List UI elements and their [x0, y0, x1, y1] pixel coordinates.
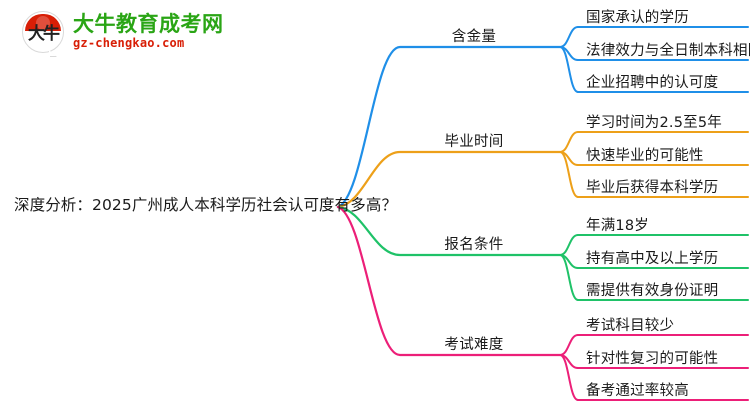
leaf-label-1-1[interactable]: 国家承认的学历: [586, 6, 689, 27]
logo-subtitle-url: gz-chengkao.com: [73, 36, 224, 51]
logo-badge-icon: 大牛: [22, 11, 64, 53]
site-logo[interactable]: 大牛 大牛教育成考网 gz-chengkao.com: [22, 8, 222, 56]
leaf-label-2-1[interactable]: 学习时间为2.5至5年: [586, 111, 722, 132]
branch-label-2[interactable]: 毕业时间: [444, 130, 503, 151]
logo-text-group: 大牛教育成考网 gz-chengkao.com: [73, 13, 224, 50]
branch-connector-1: [338, 47, 560, 207]
mindmap-root-title: 深度分析：2025广州成人本科学历社会认可度有多高？: [14, 195, 338, 215]
leaf-connector-4-1: [560, 335, 578, 355]
leaf-label-4-2[interactable]: 针对性复习的可能性: [586, 347, 718, 368]
logo-title: 大牛教育成考网: [73, 13, 224, 35]
leaf-label-1-2[interactable]: 法律效力与全日制本科相同: [586, 39, 750, 60]
leaf-connector-3-1: [560, 235, 578, 255]
leaf-connector-2-1: [560, 132, 578, 152]
leaf-label-4-3[interactable]: 备考通过率较高: [586, 379, 689, 400]
branch-label-1[interactable]: 含金量: [452, 25, 496, 46]
logo-badge-glyph: 大牛: [22, 11, 64, 53]
leaf-label-1-3[interactable]: 企业招聘中的认可度: [586, 71, 718, 92]
leaf-label-3-2[interactable]: 持有高中及以上学历: [586, 247, 718, 268]
leaf-label-3-1[interactable]: 年满18岁: [586, 214, 649, 235]
branch-label-3[interactable]: 报名条件: [444, 233, 503, 254]
leaf-label-4-1[interactable]: 考试科目较少: [586, 314, 674, 335]
leaf-label-2-3[interactable]: 毕业后获得本科学历: [586, 176, 718, 197]
leaf-connector-1-1: [560, 27, 578, 47]
leaf-label-2-2[interactable]: 快速毕业的可能性: [586, 144, 704, 165]
leaf-label-3-3[interactable]: 需提供有效身份证明: [586, 279, 718, 300]
branch-label-4[interactable]: 考试难度: [444, 333, 503, 354]
